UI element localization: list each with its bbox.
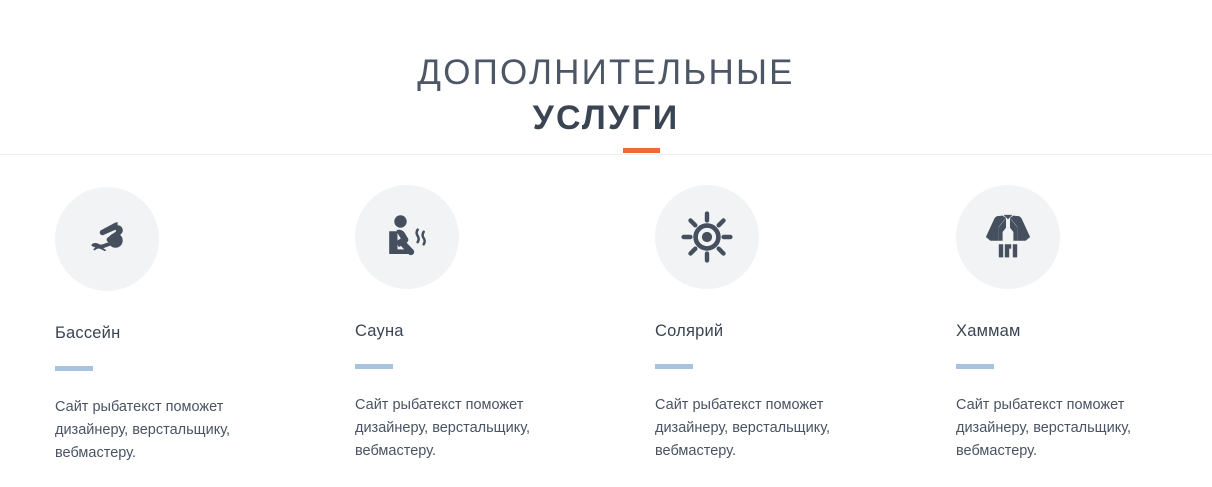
services-list: Бассейн Сайт рыбатекст поможет дизайнеру… bbox=[0, 185, 1212, 487]
service-description: Сайт рыбатекст поможет дизайнеру, верста… bbox=[355, 369, 570, 463]
bathrobe-icon bbox=[956, 185, 1060, 289]
service-card[interactable]: Бассейн Сайт рыбатекст поможет дизайнеру… bbox=[55, 187, 327, 465]
service-card[interactable]: Хаммам Сайт рыбатекст поможет дизайнеру,… bbox=[956, 185, 1212, 463]
heading-divider-rule bbox=[0, 154, 1212, 155]
service-description: Сайт рыбатекст поможет дизайнеру, верста… bbox=[655, 369, 870, 463]
section-heading: ДОПОЛНИТЕЛЬНЫЕ УСЛУГИ bbox=[0, 0, 1212, 139]
service-title: Бассейн bbox=[55, 291, 327, 344]
service-title: Хаммам bbox=[956, 289, 1212, 342]
sauna-person-steam-icon bbox=[355, 185, 459, 289]
service-description: Сайт рыбатекст поможет дизайнеру, верста… bbox=[55, 371, 270, 465]
page-title-line-2: УСЛУГИ bbox=[0, 94, 1212, 139]
service-description: Сайт рыбатекст поможет дизайнеру, верста… bbox=[956, 369, 1171, 463]
service-card[interactable]: Солярий Сайт рыбатекст поможет дизайнеру… bbox=[655, 185, 927, 463]
service-title: Сауна bbox=[355, 289, 627, 342]
heading-accent-bar bbox=[623, 148, 660, 153]
service-card[interactable]: Сауна Сайт рыбатекст поможет дизайнеру, … bbox=[355, 185, 627, 463]
page-title-line-1: ДОПОЛНИТЕЛЬНЫЕ bbox=[0, 0, 1212, 94]
service-title: Солярий bbox=[655, 289, 927, 342]
swimmer-icon bbox=[55, 187, 159, 291]
sun-icon bbox=[655, 185, 759, 289]
